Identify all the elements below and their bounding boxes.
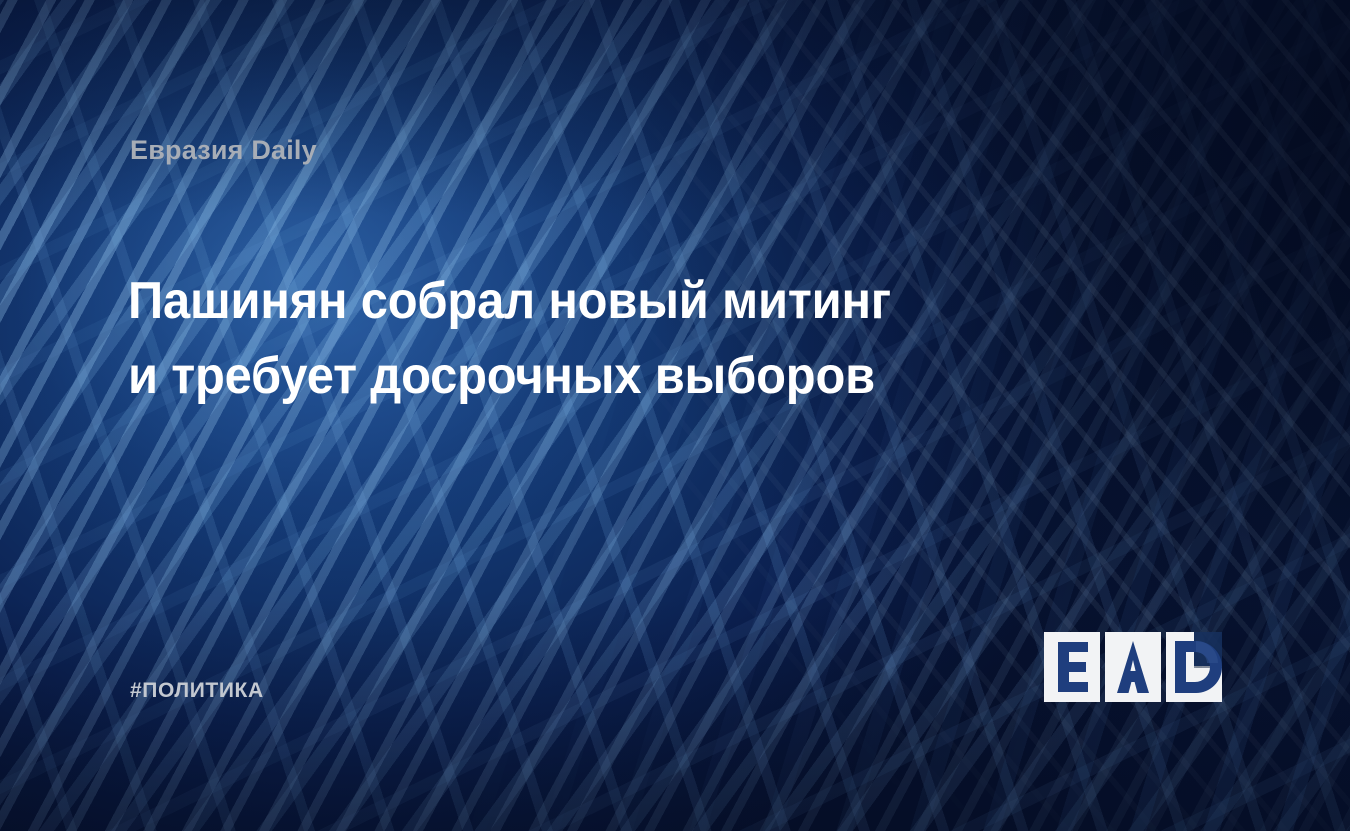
eadaily-logo <box>1044 632 1222 702</box>
headline-line-1: Пашинян собрал новый митинг <box>128 264 955 339</box>
headline: Пашинян собрал новый митинг и требует до… <box>128 264 955 414</box>
brand-name: Евразия Daily <box>130 135 317 166</box>
eadaily-logo-icon <box>1044 632 1222 702</box>
logo-letter-e <box>1044 632 1100 702</box>
headline-line-2: и требует досрочных выборов <box>128 339 955 414</box>
category-hashtag: #ПОЛИТИКА <box>130 679 264 703</box>
logo-letter-a <box>1105 632 1161 702</box>
logo-letter-d <box>1166 632 1222 702</box>
share-card: Евразия Daily Пашинян собрал новый митин… <box>0 0 1350 831</box>
card-content: Евразия Daily Пашинян собрал новый митин… <box>0 0 1350 831</box>
